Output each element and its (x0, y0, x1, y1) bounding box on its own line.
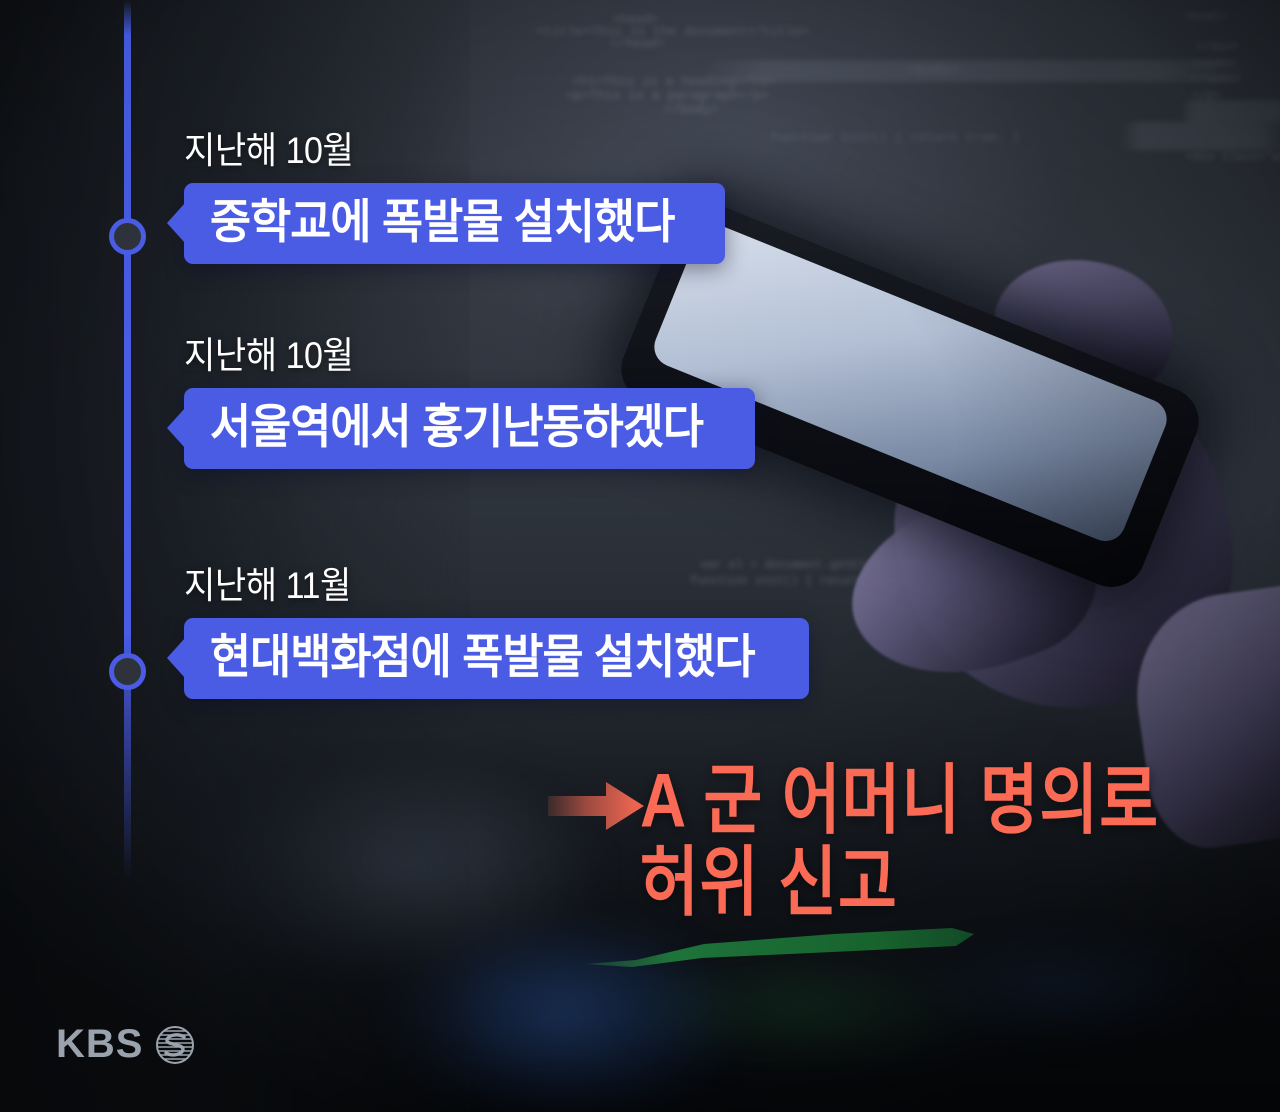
kbs-globe-icon (154, 1024, 196, 1066)
timeline-entry: 지난해 11월 현대백화점에 폭발물 설치했다 (184, 555, 809, 699)
message-bubble-text: 현대백화점에 폭발물 설치했다 (210, 632, 755, 682)
message-bubble: 서울역에서 흉기난동하겠다 (184, 388, 755, 469)
kbs-logo: KBS (56, 1022, 196, 1067)
news-graphic-canvas: <head> <title>This is the document</titl… (0, 0, 1280, 1112)
timeline-dot-marker (109, 653, 146, 690)
right-arrow-icon (548, 780, 644, 832)
timeline-entry: 지난해 10월 중학교에 폭발물 설치했다 (184, 120, 725, 264)
conclusion-line-1: A 군 어머니 명의로 (640, 758, 1223, 843)
conclusion-text-block: A 군 어머니 명의로 허위 신고 (640, 758, 1260, 916)
message-bubble-text: 중학교에 폭발물 설치했다 (210, 197, 674, 247)
entry-date-label: 지난해 11월 (184, 555, 759, 609)
message-bubble: 현대백화점에 폭발물 설치했다 (184, 618, 809, 699)
message-bubble: 중학교에 폭발물 설치했다 (184, 183, 725, 264)
kbs-wordmark: KBS (56, 1022, 143, 1067)
timeline-dot-marker (109, 218, 146, 255)
conclusion-line-2: 허위 신고 (640, 840, 1223, 925)
entry-date-label: 지난해 10월 (184, 120, 682, 174)
message-bubble-text: 서울역에서 흉기난동하겠다 (210, 402, 703, 452)
timeline-axis (124, 0, 131, 880)
timeline-entry: 지난해 10월 서울역에서 흉기난동하겠다 (184, 325, 755, 469)
entry-date-label: 지난해 10월 (184, 325, 709, 379)
